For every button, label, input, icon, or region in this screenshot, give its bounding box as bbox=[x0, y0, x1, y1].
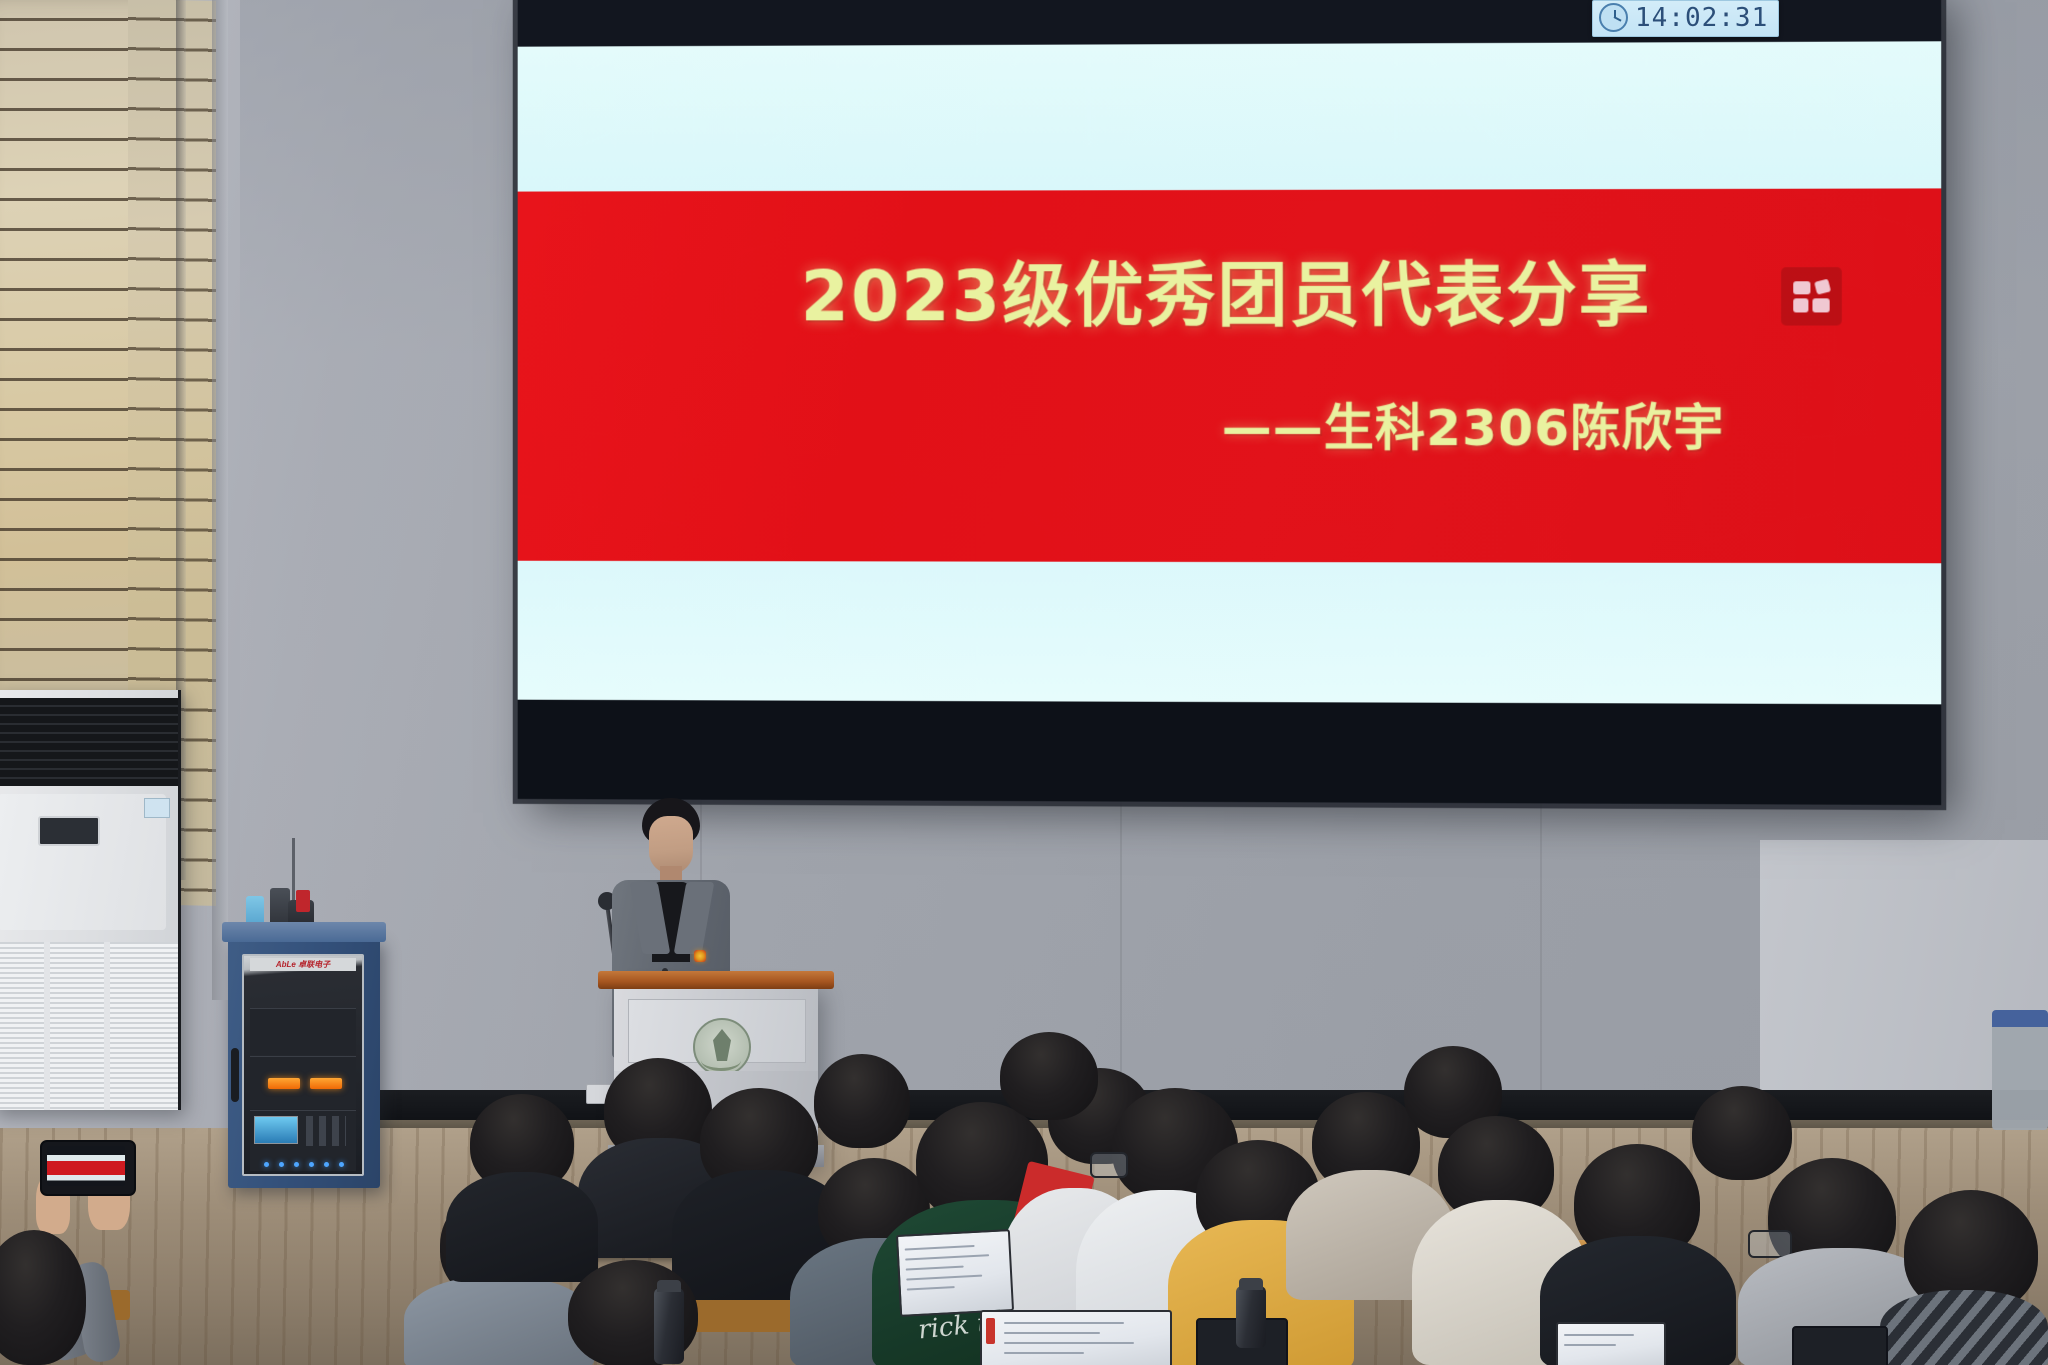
eyeglasses-icon bbox=[1748, 1230, 1792, 1258]
audience-head bbox=[1000, 1032, 1098, 1120]
ac-front-panel bbox=[0, 794, 166, 930]
audience-body bbox=[404, 1276, 594, 1365]
timestamp-text: 14:02:31 bbox=[1635, 5, 1768, 31]
podium-wood-top bbox=[598, 971, 834, 989]
slide-title: 2023级优秀团员代表分享 bbox=[518, 239, 1942, 342]
timestamp-badge: 14:02:31 bbox=[1592, 0, 1779, 37]
phone-screen bbox=[47, 1146, 125, 1186]
eyeglasses-icon bbox=[1090, 1152, 1128, 1178]
red-tag bbox=[296, 890, 310, 912]
thermos bbox=[1236, 1286, 1266, 1348]
lecture-hall-photo: 2023级优秀团员代表分享 ——生科2306陈欣宇 14:02:31 AbLe … bbox=[0, 0, 2048, 1365]
audience-body bbox=[446, 1172, 598, 1282]
ac-display-icon bbox=[38, 816, 100, 846]
wall-divider bbox=[212, 0, 228, 1000]
slide-band-white-bottom bbox=[518, 561, 1942, 705]
ac-vent bbox=[0, 698, 178, 786]
slide-band-white-top bbox=[518, 41, 1942, 191]
laptop[interactable] bbox=[896, 1229, 1014, 1317]
four-squares-logo-icon bbox=[1781, 267, 1842, 325]
clock-icon bbox=[1599, 3, 1628, 32]
audience-head bbox=[814, 1054, 910, 1148]
laptop[interactable] bbox=[980, 1310, 1172, 1365]
slide-subtitle: ——生科2306陈欣宇 bbox=[1222, 388, 1725, 460]
audience-area: rick to s bbox=[0, 1040, 2048, 1365]
rack-brand-label: AbLe 卓联电子 bbox=[250, 958, 356, 971]
thermos bbox=[654, 1288, 684, 1364]
audience-head bbox=[1692, 1086, 1792, 1180]
laptop[interactable] bbox=[1556, 1322, 1666, 1365]
smartphone-camera[interactable] bbox=[40, 1140, 136, 1196]
rack-top-surface bbox=[222, 922, 386, 942]
tablet[interactable] bbox=[1792, 1326, 1888, 1365]
ac-energy-label bbox=[144, 798, 170, 818]
led-display-screen: 2023级优秀团员代表分享 ——生科2306陈欣宇 bbox=[518, 0, 1942, 805]
audience-body bbox=[1880, 1290, 2048, 1365]
slide-band-dark-bottom bbox=[518, 700, 1942, 805]
league-member-badge-icon bbox=[694, 950, 706, 962]
